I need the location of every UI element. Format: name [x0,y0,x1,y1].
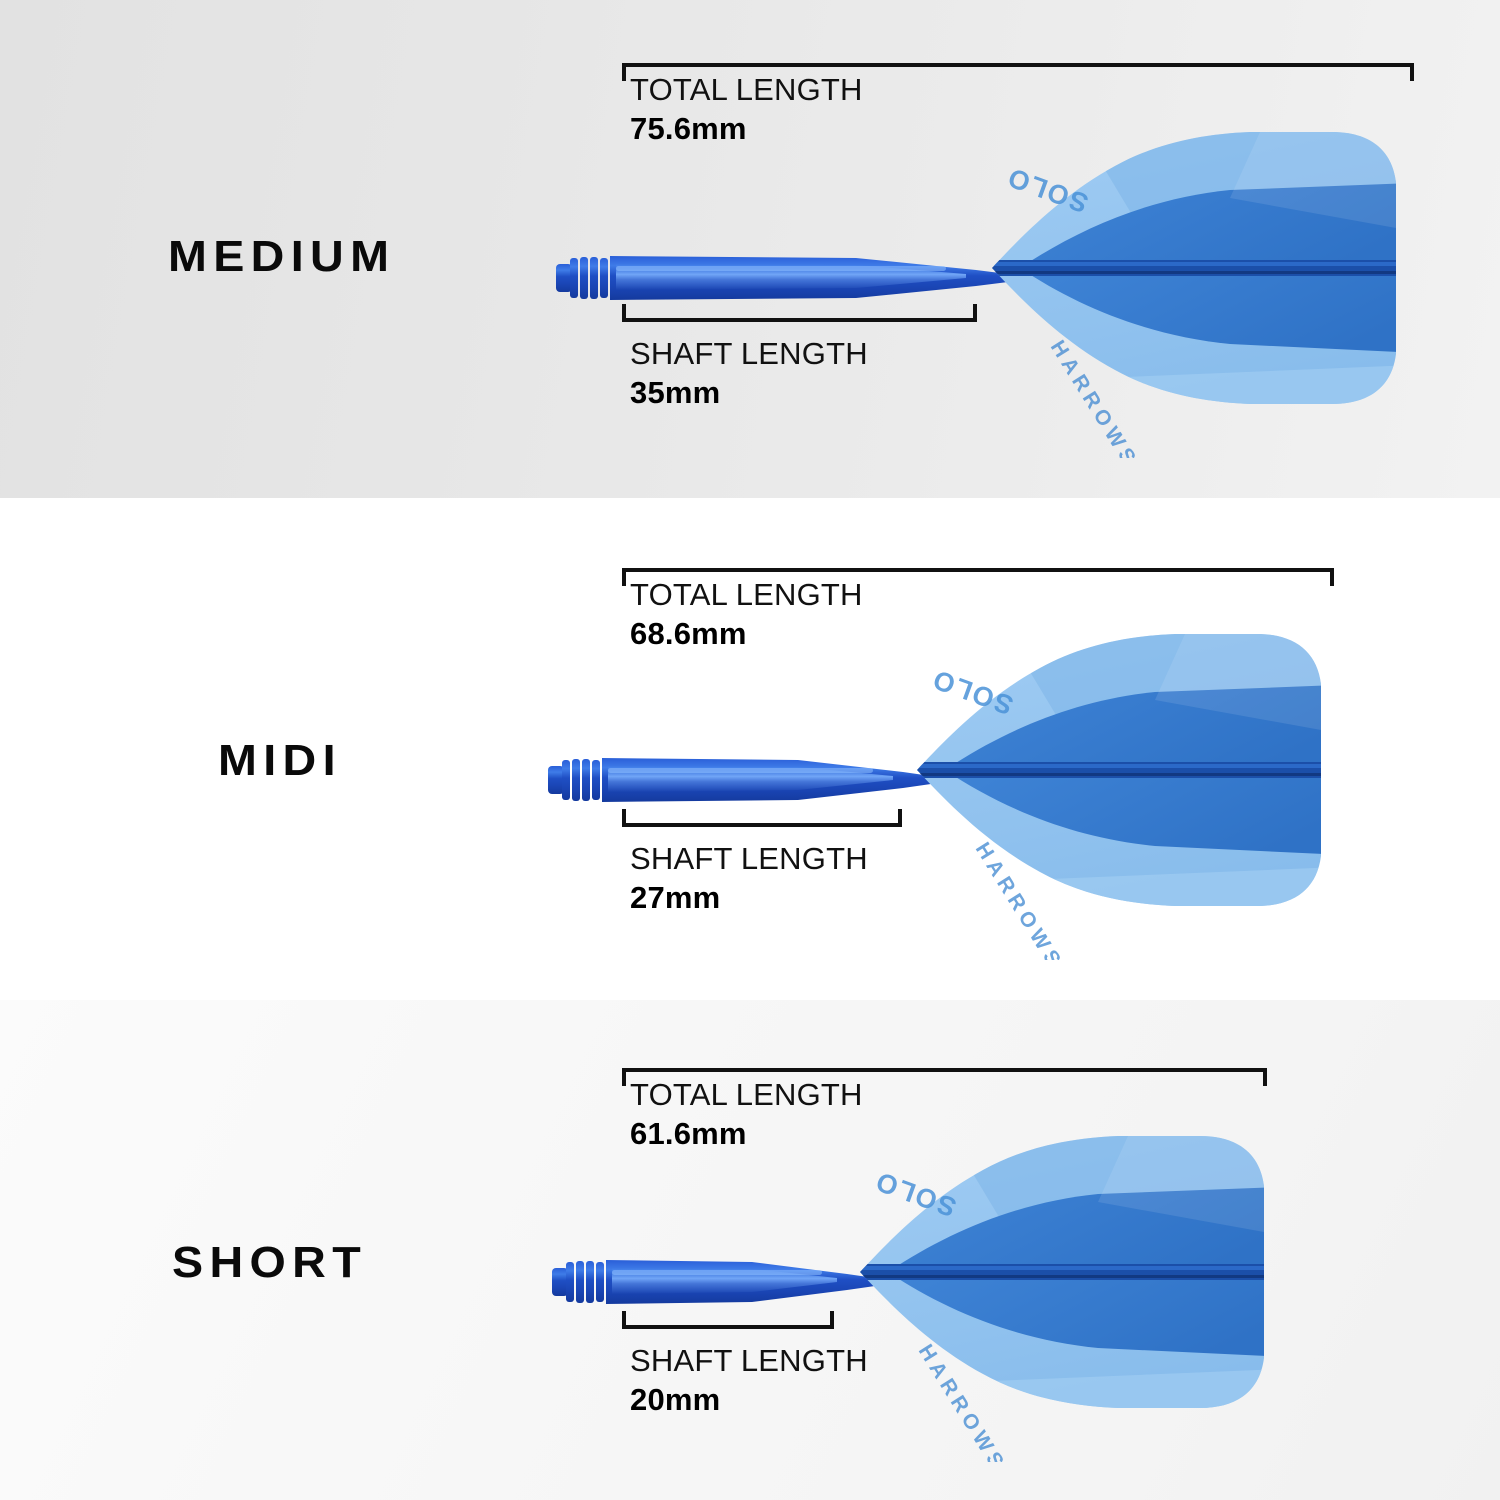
total-length-value: 75.6mm [630,109,863,149]
panel-midi: MIDI TOTAL LENGTH 68.6mm SHAFT LENGTH 27… [0,498,1500,1000]
shaft-length-dimension-medium: SHAFT LENGTH 35mm [630,336,868,413]
panel-short: SHORT TOTAL LENGTH 61.6mm SHAFT LENGTH 2… [0,1000,1500,1500]
bracket-bar [622,568,1334,572]
bracket-tick-left [622,63,626,81]
shaft-length-value: 35mm [630,373,868,413]
size-label-medium: MEDIUM [168,232,395,282]
bracket-tick-left [622,568,626,586]
bracket-tick-left [622,1068,626,1086]
flight-brand-solo-short: SOLO [870,1165,960,1222]
dart-flight-midi: SOLO HARROWS [825,580,1365,960]
size-comparison-sheet: MEDIUM TOTAL LENGTH 75.6mm SHAFT LENGTH … [0,0,1500,1500]
flight-brand-solo-medium: SOLO [1002,161,1092,218]
bracket-bar [622,1068,1267,1072]
bracket-bar [622,63,1414,67]
flight-brand-solo-midi: SOLO [927,663,1017,720]
shaft-length-title: SHAFT LENGTH [630,336,868,373]
panel-medium: MEDIUM TOTAL LENGTH 75.6mm SHAFT LENGTH … [0,0,1500,498]
total-length-dimension-medium: TOTAL LENGTH 75.6mm [630,72,863,149]
dart-flight-short: SOLO HARROWS [768,1082,1308,1462]
size-label-midi: MIDI [218,736,342,786]
total-length-title: TOTAL LENGTH [630,72,863,109]
dart-flight-medium: SOLO HARROWS [900,78,1440,458]
size-label-short: SHORT [172,1238,367,1288]
